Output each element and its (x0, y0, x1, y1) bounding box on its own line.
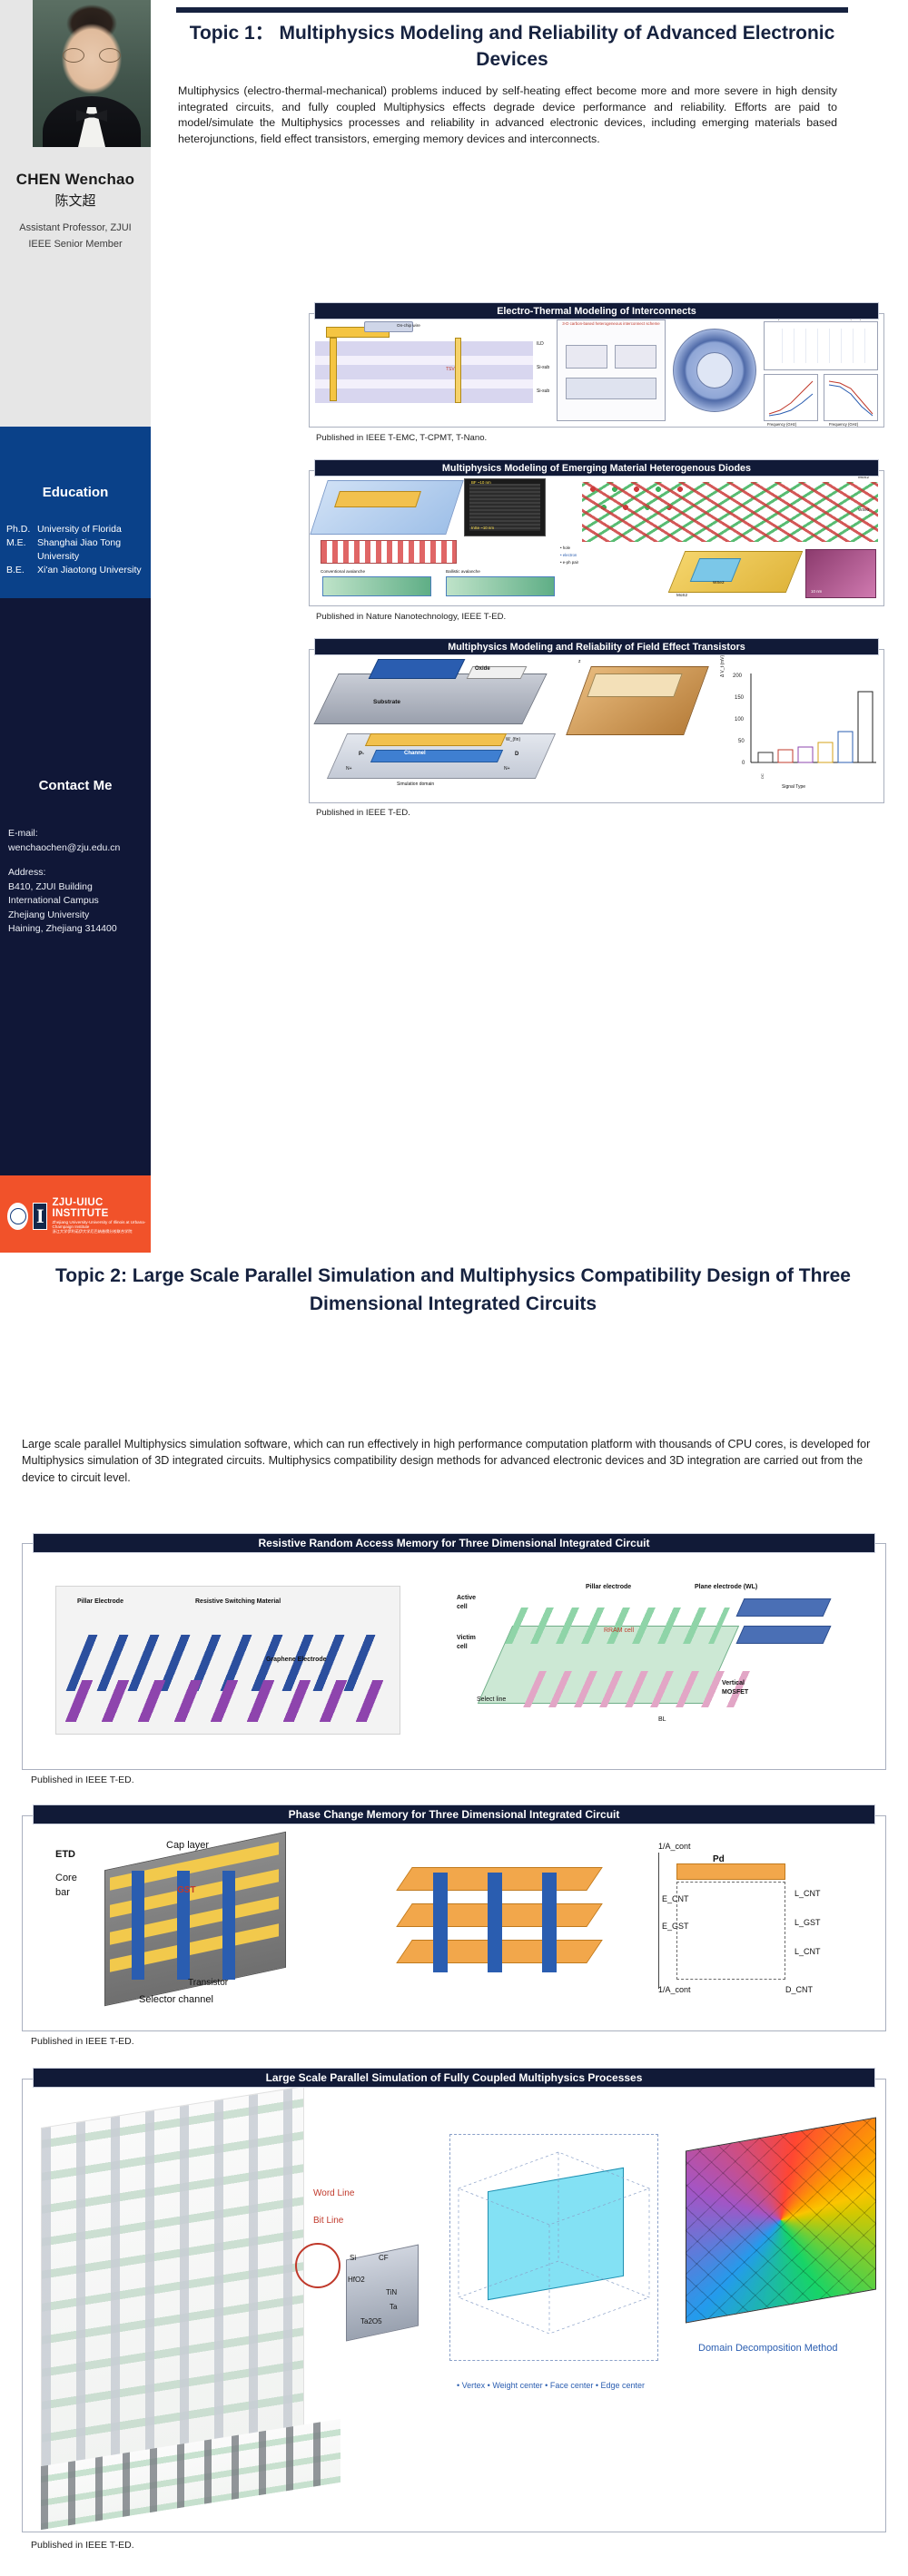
list-item: B.E. Xi'an Jiaotong University (6, 564, 150, 577)
illinois-block-i-icon (33, 1203, 47, 1230)
list-item: Ph.D. University of Florida (6, 523, 150, 536)
topic2-title: Topic 2: Large Scale Parallel Simulation… (22, 1262, 884, 1318)
glasses-icon (63, 48, 121, 64)
zju-seal-icon (7, 1203, 28, 1230)
topic2-paragraph: Large scale parallel Multiphysics simula… (22, 1436, 884, 1486)
education-list: Ph.D. University of Florida M.E. Shangha… (6, 523, 150, 577)
svg-text:0: 0 (742, 761, 745, 766)
svg-text:150: 150 (735, 695, 745, 701)
education-school: Shanghai Jiao Tong University (37, 536, 150, 564)
address-line: International Campus (8, 894, 146, 909)
address-line: Zhejiang University (8, 909, 146, 923)
panel-electro-thermal: On-chip wire ILD Si-sub Si-sub TSV 3-D c… (309, 313, 884, 428)
figure-pcm: ETD Core bar Cap layer GST Transistor Se… (23, 1816, 885, 2030)
profile-name-cn: 陈文超 (0, 191, 151, 210)
address-line: B410, ZJUI Building (8, 880, 146, 895)
panel-fet-reliability: Gate Oxide Substrate Channel P- D N+ N+ … (309, 649, 884, 803)
panel-parallel-simulation: Word Line Bit Line Si CF HfO2 TiN Ta Ta2… (22, 2079, 886, 2532)
panel-caption-heterogeneous-diodes: Published in Nature Nanotechnology, IEEE… (316, 612, 506, 622)
education-school: University of Florida (37, 523, 150, 536)
contact-section: Contact Me E-mail: wenchaochen@zju.edu.c… (0, 598, 151, 1175)
list-item: M.E. Shanghai Jiao Tong University (6, 536, 150, 564)
topic1-paragraph: Multiphysics (electro-thermal-mechanical… (178, 84, 837, 147)
institute-logo-band: ZJU-UIUC INSTITUTE Zhejiang University-U… (0, 1175, 151, 1253)
panel-header-fet-reliability: Multiphysics Modeling and Reliability of… (314, 638, 879, 655)
avatar (33, 0, 151, 147)
logo-title: ZJU-UIUC INSTITUTE (52, 1197, 151, 1219)
education-title: Education (0, 485, 151, 500)
figure-fet-structures: Gate Oxide Substrate Channel P- D N+ N+ … (310, 650, 883, 802)
panel-caption-pcm: Published in IEEE T-ED. (31, 2036, 134, 2047)
svg-text:DC: DC (760, 773, 765, 779)
panel-caption-parallel-simulation: Published in IEEE T-ED. (31, 2540, 134, 2551)
profile-role-secondary: IEEE Senior Member (0, 239, 151, 250)
profile-role-primary: Assistant Professor, ZJUI (0, 222, 151, 233)
contact-details: E-mail: wenchaochen@zju.edu.cn Address: … (8, 827, 146, 937)
education-degree: Ph.D. (6, 523, 37, 536)
email-value[interactable]: wenchaochen@zju.edu.cn (8, 841, 146, 856)
topic1-rule (176, 7, 848, 13)
education-degree: M.E. (6, 536, 37, 564)
panel-header-electro-thermal: Electro-Thermal Modeling of Interconnect… (314, 302, 879, 320)
svg-text:50: 50 (738, 739, 745, 744)
panel-caption-electro-thermal: Published in IEEE T-EMC, T-CPMT, T-Nano. (316, 433, 487, 443)
panel-header-heterogeneous-diodes: Multiphysics Modeling of Emerging Materi… (314, 459, 879, 477)
education-school: Xi'an Jiaotong University (37, 564, 150, 577)
panel-heterogeneous-diodes: BF ~10 nm InSe ~10 nm Conventional avala… (309, 470, 884, 606)
address-line: Haining, Zhejiang 314400 (8, 922, 146, 937)
contact-title: Contact Me (0, 778, 151, 793)
topic1-title: Topic 1： Multiphysics Modeling and Relia… (178, 20, 846, 73)
logo-subtitle-en: Zhejiang University-University of Illino… (52, 1220, 151, 1229)
profile-name-en: CHEN Wenchao (0, 171, 151, 189)
svg-text:200: 200 (733, 673, 743, 679)
poster-page: CHEN Wenchao 陈文超 Assistant Professor, ZJ… (0, 0, 908, 2576)
figure-parallel-simulation: Word Line Bit Line Si CF HfO2 TiN Ta Ta2… (23, 2079, 885, 2532)
email-label: E-mail: (8, 827, 146, 841)
panel-rram: Pillar Electrode Resistive Switching Mat… (22, 1543, 886, 1770)
figure-heterojunction: BF ~10 nm InSe ~10 nm Conventional avala… (310, 471, 883, 605)
panel-caption-rram: Published in IEEE T-ED. (31, 1775, 134, 1785)
svg-text:100: 100 (735, 717, 745, 723)
education-degree: B.E. (6, 564, 37, 577)
panel-header-rram: Resistive Random Access Memory for Three… (33, 1533, 875, 1553)
fet-bar-chart: 200 150 100 50 0 DC (720, 668, 880, 782)
logo-subtitle-cn: 浙江大学伊利诺伊大学厄巴纳香槟分校联合学院 (52, 1229, 151, 1234)
panel-caption-fet-reliability: Published in IEEE T-ED. (316, 808, 410, 818)
bowtie-icon (76, 110, 107, 122)
figure-interconnect-stack: On-chip wire ILD Si-sub Si-sub TSV 3-D c… (310, 314, 883, 427)
address-label: Address: (8, 866, 146, 880)
panel-header-parallel-simulation: Large Scale Parallel Simulation of Fully… (33, 2068, 875, 2088)
panel-pcm: ETD Core bar Cap layer GST Transistor Se… (22, 1815, 886, 2031)
education-section: Education Ph.D. University of Florida M.… (0, 427, 151, 598)
panel-header-pcm: Phase Change Memory for Three Dimensiona… (33, 1804, 875, 1824)
figure-rram: Pillar Electrode Resistive Switching Mat… (23, 1544, 885, 1769)
